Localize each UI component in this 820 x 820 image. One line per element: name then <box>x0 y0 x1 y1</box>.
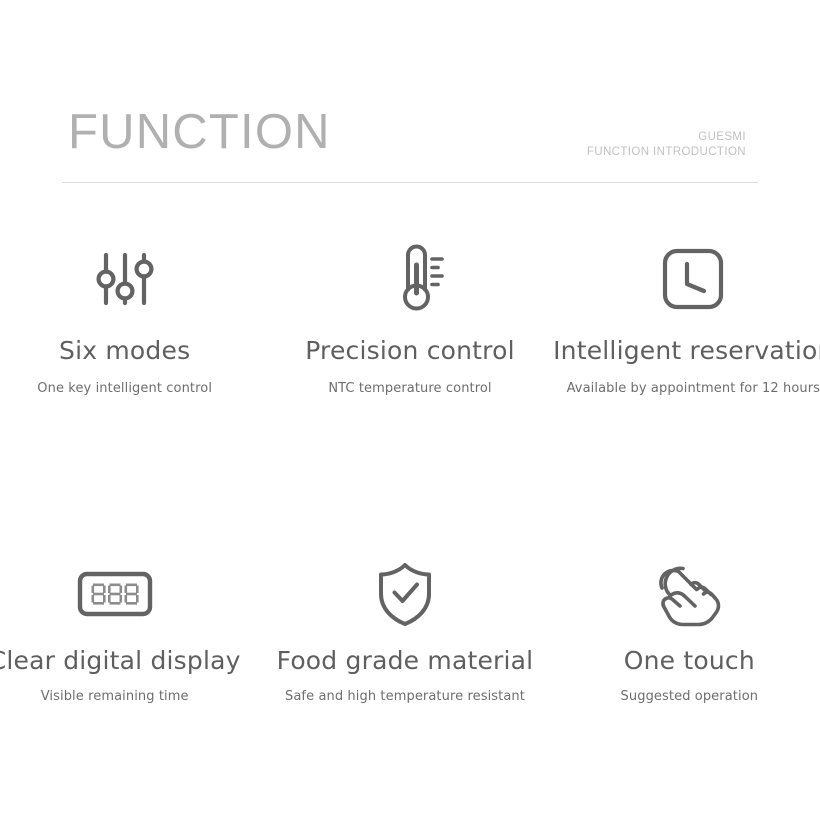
feature-caption: Visible remaining time <box>41 689 189 704</box>
row-spacer <box>0 396 820 552</box>
header-divider <box>62 182 758 183</box>
feature-card-clear-digital-display: Clear digital display Visible remaining … <box>0 552 251 704</box>
feature-caption: Available by appointment for 12 hours <box>567 381 820 396</box>
feature-title: Precision control <box>305 336 515 365</box>
touch-hand-icon <box>650 552 728 636</box>
feature-title: Food grade material <box>277 646 534 675</box>
feature-title: Clear digital display <box>0 646 241 675</box>
feature-caption: Safe and high temperature resistant <box>285 689 525 704</box>
thermometer-icon <box>374 236 446 322</box>
feature-title: Intelligent reservation <box>553 336 820 365</box>
feature-card-precision-control: Precision control NTC temperature contro… <box>273 236 546 396</box>
feature-card-six-modes: Six modes One key intelligent control <box>0 236 261 396</box>
shield-check-icon <box>372 552 438 636</box>
feature-row-2: Clear digital display Visible remaining … <box>0 552 820 704</box>
page-title: FUNCTION <box>68 108 331 157</box>
feature-title: Six modes <box>59 336 190 365</box>
feature-card-intelligent-reservation: Intelligent reservation Available by app… <box>557 236 820 396</box>
brand-label: GUESMI <box>587 130 746 145</box>
feature-caption: Suggested operation <box>621 689 759 704</box>
page-header: FUNCTION GUESMI FUNCTION INTRODUCTION <box>62 108 758 184</box>
clock-icon <box>657 236 729 322</box>
feature-caption: NTC temperature control <box>328 381 491 396</box>
sliders-icon <box>89 236 161 322</box>
feature-card-food-grade-material: Food grade material Safe and high temper… <box>268 552 541 704</box>
feature-card-one-touch: One touch Suggested operation <box>553 552 820 704</box>
header-meta: GUESMI FUNCTION INTRODUCTION <box>587 130 746 160</box>
digital-display-icon <box>77 552 153 636</box>
feature-grid: Six modes One key intelligent control <box>0 236 820 704</box>
feature-caption: One key intelligent control <box>37 381 212 396</box>
feature-row-1: Six modes One key intelligent control <box>0 236 820 396</box>
function-introduction-page: FUNCTION GUESMI FUNCTION INTRODUCTION <box>0 0 820 820</box>
feature-title: One touch <box>624 646 755 675</box>
header-subtitle: FUNCTION INTRODUCTION <box>587 145 746 160</box>
